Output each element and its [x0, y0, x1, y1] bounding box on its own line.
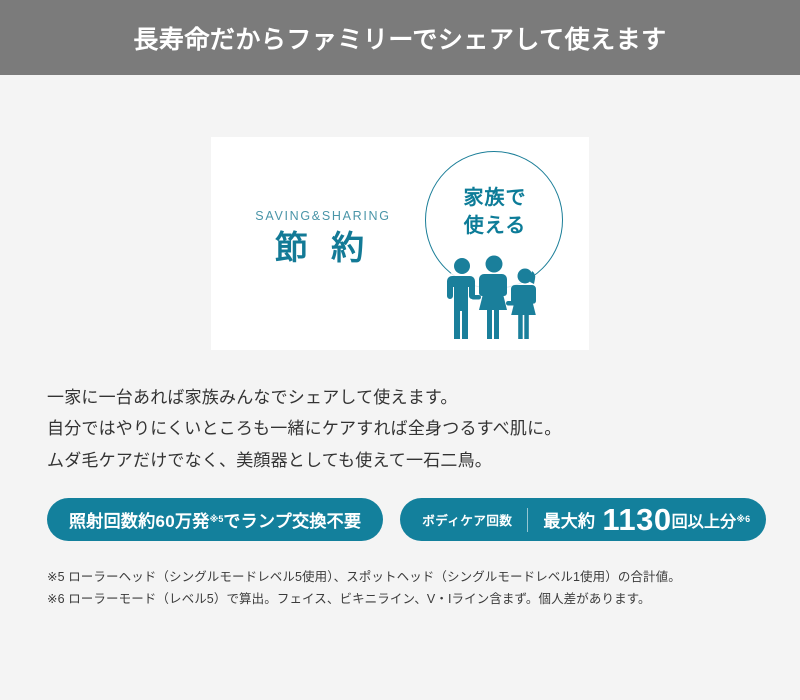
footnotes-block: ※5 ローラーヘッド（シングルモードレベル5使用）、スポットヘッド（シングルモー…	[47, 567, 800, 611]
stats-pill-row: 照射回数約60万発※5でランプ交換不要 ボディケア回数 最大約 1130 回以上…	[47, 498, 800, 541]
page-title: 長寿命だからファミリーでシェアして使えます	[133, 20, 666, 56]
footnote-5: ※5 ローラーヘッド（シングルモードレベル5使用）、スポットヘッド（シングルモー…	[47, 567, 800, 589]
hero-section: SAVING&SHARING 節 約 家族で 使える	[0, 75, 800, 350]
hero-image-card: SAVING&SHARING 節 約 家族で 使える	[211, 137, 589, 350]
body-paragraph: 一家に一台あれば家族みんなでシェアして使えます。 自分ではやりにくいところも一緒…	[47, 382, 800, 476]
family-of-three-icon	[435, 251, 555, 343]
body-care-footnote-marker: ※6	[736, 514, 750, 525]
body-care-count-value: 1130	[602, 504, 671, 535]
circle-text-line2: 使える	[415, 213, 575, 241]
lamp-life-text-after: でランプ交換不要	[223, 507, 361, 532]
circle-text-line1: 家族で	[415, 185, 575, 213]
hero-kanji-label: 節 約	[237, 229, 409, 267]
hero-eyebrow-label: SAVING&SHARING	[237, 209, 409, 223]
body-line-3: ムダ毛ケアだけでなく、美顔器としても使えて一石二鳥。	[47, 445, 800, 476]
pill-divider	[527, 508, 528, 532]
circle-text-block: 家族で 使える	[415, 185, 575, 240]
body-care-approx-label: 最大約	[543, 507, 595, 532]
lamp-life-footnote-marker: ※5	[210, 514, 224, 525]
hero-right-badge-block: 家族で 使える	[415, 147, 575, 347]
body-care-count-pill: ボディケア回数 最大約 1130 回以上分※6	[400, 498, 766, 541]
footnote-6: ※6 ローラーモード（レベル5）で算出。フェイス、ビキニライン、V・Iライン含ま…	[47, 589, 800, 611]
body-line-1: 一家に一台あれば家族みんなでシェアして使えます。	[47, 382, 800, 413]
hero-left-text-block: SAVING&SHARING 節 約	[237, 209, 409, 267]
body-care-unit-label: 回以上分	[672, 508, 737, 532]
lamp-life-pill: 照射回数約60万発※5でランプ交換不要	[47, 498, 383, 541]
lamp-life-text: 照射回数約60万発	[69, 507, 210, 532]
body-line-2: 自分ではやりにくいところも一緒にケアすれば全身つるすべ肌に。	[47, 413, 800, 444]
body-care-label: ボディケア回数	[422, 510, 512, 529]
page-header-bar: 長寿命だからファミリーでシェアして使えます	[0, 0, 800, 75]
